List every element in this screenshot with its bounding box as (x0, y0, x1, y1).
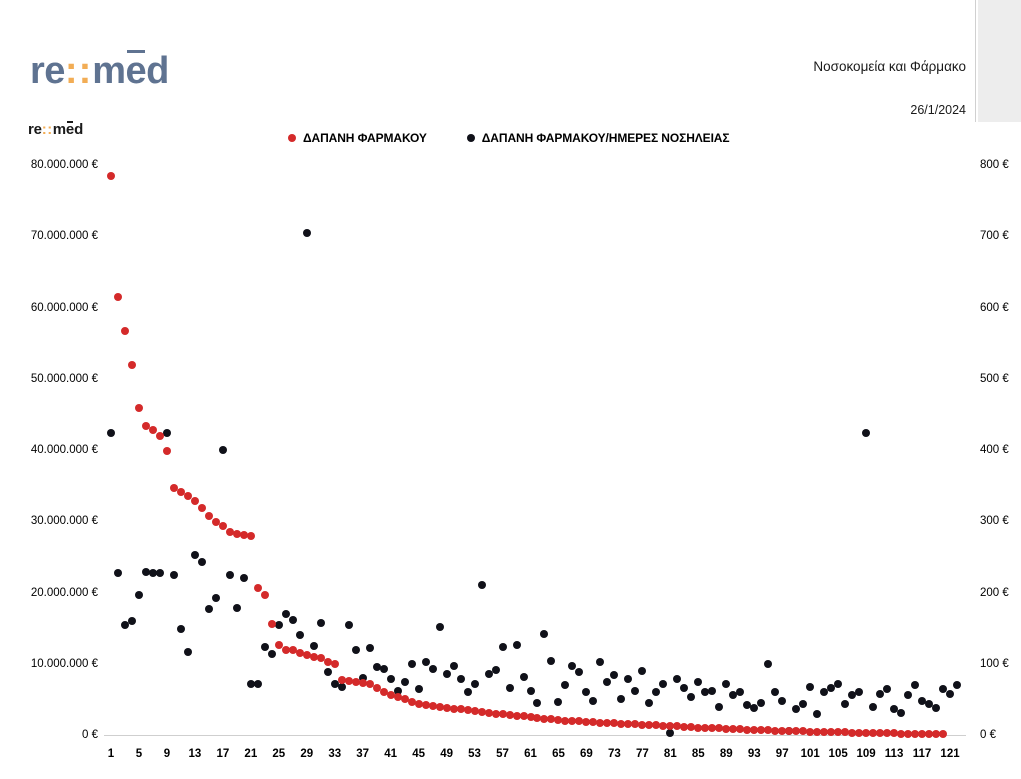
legend-label: ΔΑΠΑΝΗ ΦΑΡΜΑΚΟΥ/ΗΜΕΡΕΣ ΝΟΣΗΛΕΙΑΣ (482, 131, 730, 145)
data-point (464, 688, 472, 696)
data-point (520, 673, 528, 681)
data-point (862, 429, 870, 437)
y-axis-left: 0 €10.000.000 €20.000.000 €30.000.000 €4… (0, 0, 98, 779)
data-point (107, 172, 115, 180)
y-axis-right-tick-label: 0 € (980, 729, 996, 741)
data-point (268, 650, 276, 658)
page-title: Νοσοκομεία και Φάρμακο (813, 59, 966, 74)
data-point (869, 703, 877, 711)
x-axis-tick-label: 57 (496, 748, 509, 760)
data-point (191, 551, 199, 559)
data-point (121, 327, 129, 335)
x-axis-tick-label: 1 (108, 748, 114, 760)
data-point (778, 697, 786, 705)
data-point (806, 683, 814, 691)
x-axis-tick-label: 81 (664, 748, 677, 760)
data-point (268, 620, 276, 628)
y-axis-right-tick-label: 100 € (980, 658, 1009, 670)
data-point (317, 619, 325, 627)
data-point (547, 657, 555, 665)
logo-text-d: d (146, 50, 169, 92)
logo-text-e-macron: e (126, 52, 147, 90)
data-point (855, 688, 863, 696)
data-point (261, 643, 269, 651)
data-point (163, 447, 171, 455)
data-point (275, 621, 283, 629)
data-point (408, 660, 416, 668)
data-point (254, 584, 262, 592)
legend-marker-icon (288, 134, 296, 142)
y-axis-left-tick-label: 20.000.000 € (31, 587, 98, 599)
report-date: 26/1/2024 (910, 103, 966, 117)
data-point (261, 591, 269, 599)
y-axis-left-tick-label: 80.000.000 € (31, 159, 98, 171)
data-point (366, 644, 374, 652)
data-point (289, 616, 297, 624)
x-axis-tick-label: 89 (720, 748, 733, 760)
data-point (617, 695, 625, 703)
data-point (513, 641, 521, 649)
data-point (114, 569, 122, 577)
data-point (533, 699, 541, 707)
data-point (659, 680, 667, 688)
data-point (254, 680, 262, 688)
y-axis-right: 0 €100 €200 €300 €400 €500 €600 €700 €80… (980, 0, 1021, 779)
y-axis-right-tick-label: 500 € (980, 373, 1009, 385)
data-point (834, 680, 842, 688)
data-point (156, 569, 164, 577)
x-axis-tick-label: 105 (829, 748, 848, 760)
x-axis-tick-label: 69 (580, 748, 593, 760)
data-point (527, 687, 535, 695)
data-point (722, 680, 730, 688)
data-point (939, 730, 947, 738)
data-point (904, 691, 912, 699)
data-point (471, 680, 479, 688)
data-point (596, 658, 604, 666)
data-point (331, 660, 339, 668)
data-point (799, 700, 807, 708)
y-axis-left-tick-label: 30.000.000 € (31, 515, 98, 527)
y-axis-left-tick-label: 40.000.000 € (31, 444, 98, 456)
data-point (205, 605, 213, 613)
x-axis-tick-label: 77 (636, 748, 649, 760)
x-axis-tick-label: 85 (692, 748, 705, 760)
data-point (694, 678, 702, 686)
data-point (638, 667, 646, 675)
y-axis-right-tick-label: 700 € (980, 230, 1009, 242)
data-point (163, 429, 171, 437)
x-axis: 1591317212529333741454953576165697377818… (0, 748, 1021, 770)
data-point (457, 675, 465, 683)
legend-label: ΔΑΠΑΝΗ ΦΑΡΜΑΚΟΥ (303, 131, 427, 145)
legend-marker-icon (467, 134, 475, 142)
data-point (540, 630, 548, 638)
data-point (345, 621, 353, 629)
data-point (610, 671, 618, 679)
y-axis-left-tick-label: 10.000.000 € (31, 658, 98, 670)
data-point (415, 685, 423, 693)
data-point (492, 666, 500, 674)
data-point (506, 684, 514, 692)
data-point (897, 709, 905, 717)
y-axis-left-tick-label: 50.000.000 € (31, 373, 98, 385)
x-axis-tick-label: 101 (801, 748, 820, 760)
chart-legend: ΔΑΠΑΝΗ ΦΑΡΜΑΚΟΥ ΔΑΠΑΝΗ ΦΑΡΜΑΚΟΥ/ΗΜΕΡΕΣ Ν… (288, 131, 729, 145)
data-point (282, 610, 290, 618)
data-point (184, 648, 192, 656)
data-point (736, 688, 744, 696)
x-axis-tick-label: 13 (188, 748, 201, 760)
data-point (485, 670, 493, 678)
data-point (757, 699, 765, 707)
data-point (387, 675, 395, 683)
x-axis-tick-label: 21 (244, 748, 257, 760)
x-axis-tick-label: 109 (857, 748, 876, 760)
data-point (715, 703, 723, 711)
data-point (219, 446, 227, 454)
x-axis-tick-label: 53 (468, 748, 481, 760)
data-point (450, 662, 458, 670)
data-point (561, 681, 569, 689)
data-point (603, 678, 611, 686)
data-point (240, 574, 248, 582)
data-point (135, 404, 143, 412)
legend-item-drug-expense[interactable]: ΔΑΠΑΝΗ ΦΑΡΜΑΚΟΥ (288, 131, 427, 145)
data-point (813, 710, 821, 718)
data-point (233, 604, 241, 612)
data-point (156, 432, 164, 440)
x-axis-tick-label: 5 (136, 748, 142, 760)
x-axis-tick-label: 37 (356, 748, 369, 760)
data-point (380, 665, 388, 673)
data-point (764, 660, 772, 668)
data-point (310, 642, 318, 650)
data-point (841, 700, 849, 708)
panel-divider (975, 0, 976, 122)
data-point (582, 688, 590, 696)
data-point (170, 571, 178, 579)
data-point (673, 675, 681, 683)
y-axis-left-tick-label: 70.000.000 € (31, 230, 98, 242)
data-point (436, 623, 444, 631)
data-point (198, 558, 206, 566)
data-point (219, 522, 227, 530)
x-axis-tick-label: 17 (216, 748, 229, 760)
data-point (296, 631, 304, 639)
data-point (946, 690, 954, 698)
data-point (575, 668, 583, 676)
data-point (631, 687, 639, 695)
data-point (953, 681, 961, 689)
data-point (499, 643, 507, 651)
x-axis-tick-label: 93 (748, 748, 761, 760)
data-point (247, 532, 255, 540)
x-axis-tick-label: 61 (524, 748, 537, 760)
x-axis-tick-label: 73 (608, 748, 621, 760)
x-axis-tick-label: 97 (776, 748, 789, 760)
x-axis-tick-label: 33 (328, 748, 341, 760)
x-axis-tick-label: 113 (885, 748, 904, 760)
data-point (324, 668, 332, 676)
x-axis-tick-label: 25 (272, 748, 285, 760)
data-point (687, 693, 695, 701)
y-axis-left-tick-label: 60.000.000 € (31, 302, 98, 314)
data-point (177, 625, 185, 633)
data-point (708, 687, 716, 695)
data-point (212, 594, 220, 602)
data-point (303, 229, 311, 237)
data-point (443, 670, 451, 678)
data-point (107, 429, 115, 437)
x-axis-tick-label: 121 (940, 748, 959, 760)
data-point (554, 698, 562, 706)
data-point (114, 293, 122, 301)
data-point (771, 688, 779, 696)
data-point (135, 591, 143, 599)
legend-item-drug-expense-per-day[interactable]: ΔΑΠΑΝΗ ΦΑΡΜΑΚΟΥ/ΗΜΕΡΕΣ ΝΟΣΗΛΕΙΑΣ (467, 131, 730, 145)
x-axis-tick-label: 65 (552, 748, 565, 760)
x-axis-tick-label: 49 (440, 748, 453, 760)
scatter-plot-area (104, 165, 964, 735)
data-point (352, 646, 360, 654)
data-point (191, 497, 199, 505)
data-point (624, 675, 632, 683)
data-point (883, 685, 891, 693)
data-point (932, 704, 940, 712)
y-axis-right-tick-label: 400 € (980, 444, 1009, 456)
y-axis-right-tick-label: 300 € (980, 515, 1009, 527)
x-axis-tick-label: 29 (300, 748, 313, 760)
data-point (401, 678, 409, 686)
y-axis-left-tick-label: 0 € (82, 729, 98, 741)
data-point (198, 504, 206, 512)
data-point (128, 361, 136, 369)
data-point (911, 681, 919, 689)
x-axis-tick-label: 9 (164, 748, 170, 760)
data-point (422, 658, 430, 666)
x-axis-tick-label: 41 (384, 748, 397, 760)
data-point (128, 617, 136, 625)
y-axis-right-tick-label: 200 € (980, 587, 1009, 599)
x-axis-tick-label: 45 (412, 748, 425, 760)
x-axis-tick-label: 117 (913, 748, 932, 760)
y-axis-right-tick-label: 800 € (980, 159, 1009, 171)
y-axis-right-tick-label: 600 € (980, 302, 1009, 314)
data-point (680, 684, 688, 692)
data-point (429, 665, 437, 673)
data-point (652, 688, 660, 696)
data-point (478, 581, 486, 589)
data-point (589, 697, 597, 705)
data-point (226, 571, 234, 579)
data-point (645, 699, 653, 707)
